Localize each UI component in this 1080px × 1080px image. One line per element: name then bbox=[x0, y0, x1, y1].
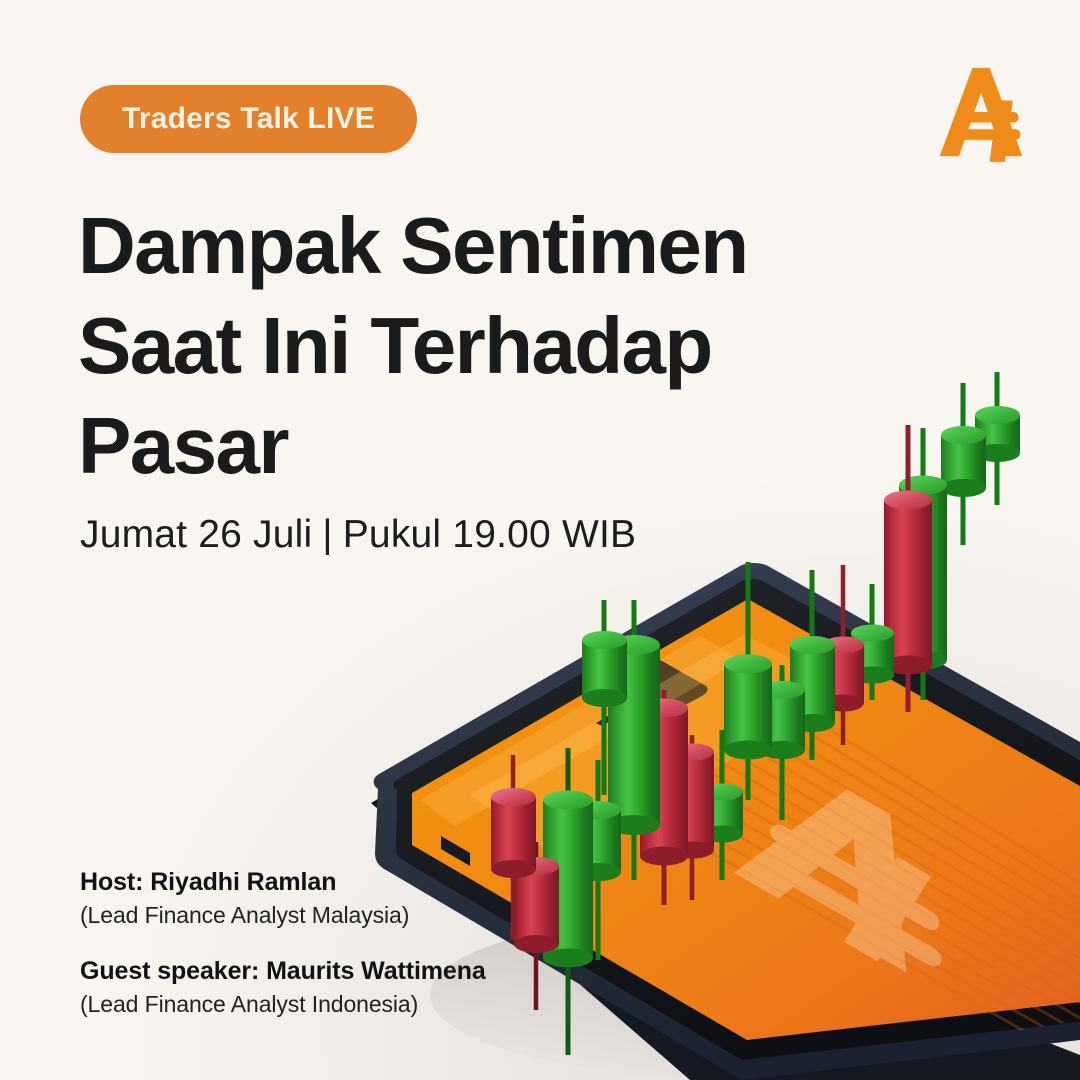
schedule-date: Jumat 26 Juli bbox=[80, 513, 312, 556]
credit-guest: Guest speaker: Maurits Wattimena (Lead F… bbox=[80, 957, 486, 1018]
headline-line-2: Saat Ini Terhadap bbox=[78, 296, 838, 396]
poster-canvas: Traders Talk LIVE Dampak Sentimen Saat I… bbox=[0, 0, 1080, 1080]
guest-role: (Lead Finance Analyst Indonesia) bbox=[80, 991, 486, 1018]
headline-line-3: Pasar bbox=[78, 396, 838, 496]
brand-a-logo-icon bbox=[934, 62, 1030, 162]
page-title: Dampak Sentimen Saat Ini Terhadap Pasar bbox=[78, 196, 838, 496]
host-name: Host: Riyadhi Ramlan bbox=[80, 868, 486, 897]
host-role: (Lead Finance Analyst Malaysia) bbox=[80, 902, 486, 929]
credit-host: Host: Riyadhi Ramlan (Lead Finance Analy… bbox=[80, 868, 486, 929]
headline-line-1: Dampak Sentimen bbox=[78, 196, 838, 296]
candle-16 bbox=[941, 383, 986, 545]
live-badge[interactable]: Traders Talk LIVE bbox=[80, 85, 417, 153]
guest-name: Guest speaker: Maurits Wattimena bbox=[80, 957, 486, 986]
schedule-separator: | bbox=[312, 513, 342, 557]
schedule-time: Pukul 19.00 WIB bbox=[343, 513, 636, 556]
schedule-line: Jumat 26 Juli|Pukul 19.00 WIB bbox=[80, 513, 636, 557]
speaker-credits: Host: Riyadhi Ramlan (Lead Finance Analy… bbox=[80, 868, 486, 1018]
